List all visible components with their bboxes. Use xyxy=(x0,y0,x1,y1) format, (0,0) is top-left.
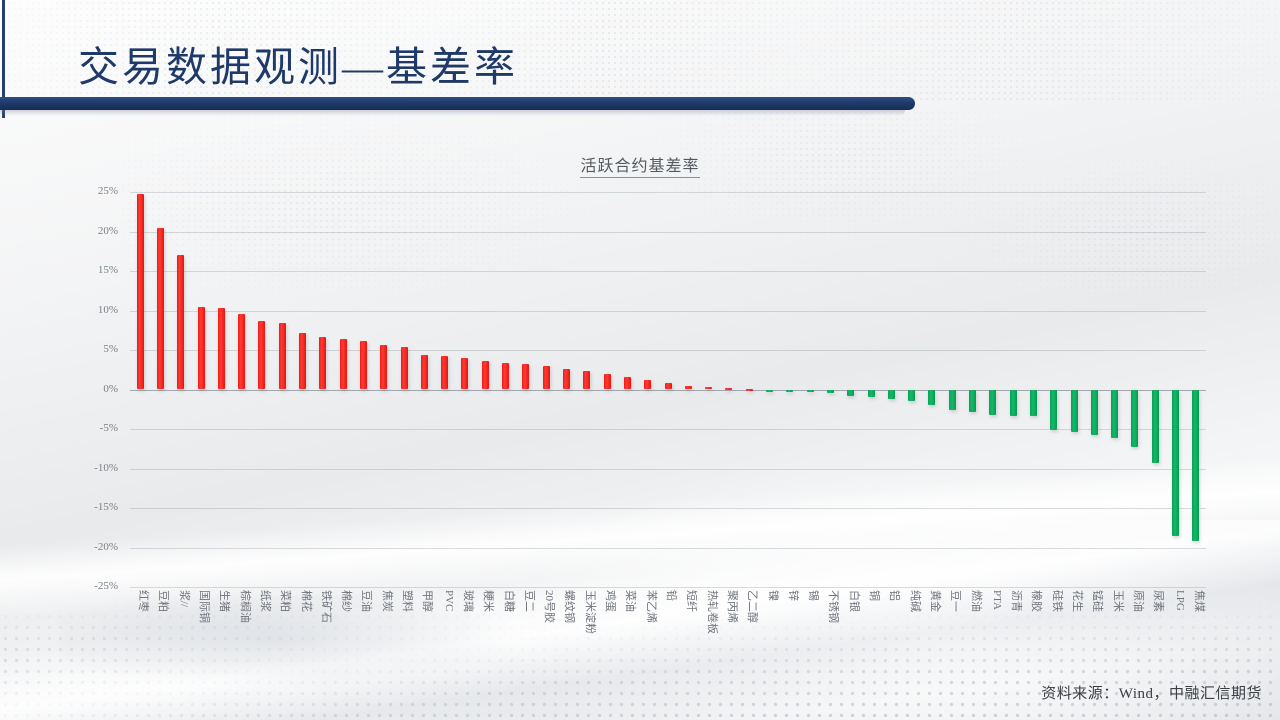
x-axis-category-label: 焦煤 xyxy=(1192,590,1208,612)
gridline xyxy=(130,390,1206,391)
chart-bar[interactable] xyxy=(563,369,570,390)
chart-bar[interactable] xyxy=(1010,390,1017,416)
chart-bar[interactable] xyxy=(177,255,184,389)
gridline xyxy=(130,587,1206,588)
gridline xyxy=(130,548,1206,549)
gridline xyxy=(130,469,1206,470)
x-axis-category-label: 苯乙烯 xyxy=(644,590,660,623)
x-axis-category-label: 焦炭 xyxy=(380,590,396,612)
y-axis-tick-label: -10% xyxy=(58,462,118,474)
chart-bar[interactable] xyxy=(258,321,265,390)
x-axis-category-label: 豆二 xyxy=(522,590,538,612)
chart-bar[interactable] xyxy=(827,390,834,393)
x-axis-category-label: 玉米淀粉 xyxy=(583,590,599,634)
y-axis-tick-label: 15% xyxy=(58,264,118,276)
page-title: 交易数据观测—基差率 xyxy=(78,33,518,93)
header-accent-bar xyxy=(0,97,915,110)
x-axis-category-label: 短纤 xyxy=(684,590,700,612)
x-axis-category-label: 白银 xyxy=(847,590,863,612)
x-axis-category-label: 锰硅 xyxy=(1090,590,1106,612)
gridline xyxy=(130,311,1206,312)
chart-bar[interactable] xyxy=(908,390,915,401)
chart-bar[interactable] xyxy=(604,374,611,390)
chart-bar[interactable] xyxy=(685,386,692,390)
gridline xyxy=(130,508,1206,509)
chart-bar[interactable] xyxy=(949,390,956,411)
x-axis-category-label: 铁矿石 xyxy=(319,590,335,623)
chart-bar[interactable] xyxy=(1071,390,1078,433)
x-axis-category-label: PVC xyxy=(443,590,455,611)
chart-bar[interactable] xyxy=(746,389,753,391)
chart-bar[interactable] xyxy=(522,364,529,389)
y-axis-tick-label: -20% xyxy=(58,541,118,553)
chart-bar[interactable] xyxy=(543,366,550,390)
x-axis-category-label: 锌 xyxy=(786,590,802,601)
chart-bar[interactable] xyxy=(360,341,367,390)
x-axis-category-label: 橡胶 xyxy=(1029,590,1045,612)
x-axis-category-label: 沥青 xyxy=(1009,590,1025,612)
chart-bar[interactable] xyxy=(157,228,164,390)
x-axis-category-label: 乙二醇 xyxy=(745,590,761,623)
x-axis-category-label: LPG xyxy=(1174,590,1186,611)
y-axis-tick-label: 20% xyxy=(58,225,118,237)
y-axis-tick-label: -5% xyxy=(58,422,118,434)
x-axis-category-label: 生猪 xyxy=(217,590,233,612)
chart-bar[interactable] xyxy=(502,363,509,390)
chart-bar[interactable] xyxy=(807,390,814,392)
x-axis-category-label: 黄金 xyxy=(928,590,944,612)
x-axis-category-label: 镍 xyxy=(766,590,782,601)
x-axis-category-label: 螺纹钢 xyxy=(562,590,578,623)
chart-bar[interactable] xyxy=(989,390,996,415)
chart-bar[interactable] xyxy=(218,308,225,389)
chart-bar[interactable] xyxy=(786,390,793,392)
y-axis-tick-label: 25% xyxy=(58,185,118,197)
chart-bar[interactable] xyxy=(401,347,408,390)
chart-title: 活跃合约基差率 xyxy=(0,152,1280,176)
y-axis-tick-label: -25% xyxy=(58,580,118,592)
x-axis-category-label: 硅铁 xyxy=(1050,590,1066,612)
chart-bar[interactable] xyxy=(1172,390,1179,536)
gridline xyxy=(130,232,1206,233)
chart-bar[interactable] xyxy=(299,333,306,390)
chart-bar[interactable] xyxy=(279,323,286,389)
chart-bar[interactable] xyxy=(766,390,773,392)
x-axis-category-label: 浆// xyxy=(177,590,193,607)
gridline xyxy=(130,429,1206,430)
chart-bar[interactable] xyxy=(847,390,854,396)
chart-bar[interactable] xyxy=(340,339,347,390)
x-axis-category-label: 纸浆 xyxy=(258,590,274,612)
y-axis-tick-label: 5% xyxy=(58,343,118,355)
x-axis-category-label: 白糖 xyxy=(502,590,518,612)
y-axis-tick-label: 0% xyxy=(58,383,118,395)
chart-bar[interactable] xyxy=(644,380,651,389)
x-axis-category-label: 豆粕 xyxy=(156,590,172,612)
chart-bar[interactable] xyxy=(888,390,895,399)
chart-bar[interactable] xyxy=(928,390,935,405)
chart-bar[interactable] xyxy=(583,371,590,389)
chart-bar[interactable] xyxy=(482,361,489,389)
chart-bar[interactable] xyxy=(1192,390,1199,542)
x-axis-category-label: 锡 xyxy=(806,590,822,601)
x-axis-category-label: 铝 xyxy=(887,590,903,601)
chart-bar[interactable] xyxy=(421,355,428,390)
chart-bar[interactable] xyxy=(1091,390,1098,436)
x-axis-category-label: 不锈钢 xyxy=(826,590,842,623)
chart-bar[interactable] xyxy=(1111,390,1118,439)
chart-bar[interactable] xyxy=(137,194,144,390)
x-axis-category-label: 棕榈油 xyxy=(238,590,254,623)
chart-bar[interactable] xyxy=(1131,390,1138,448)
slide-canvas: 交易数据观测—基差率 活跃合约基差率 25%20%15%10%5%0%-5%-1… xyxy=(0,0,1280,720)
chart-bar[interactable] xyxy=(624,377,631,390)
chart-title-text: 活跃合约基差率 xyxy=(580,158,699,178)
chart-bar[interactable] xyxy=(868,390,875,398)
x-axis-category-label: PTA xyxy=(991,590,1003,610)
chart-bar[interactable] xyxy=(1050,390,1057,430)
y-axis-tick-label: -15% xyxy=(58,501,118,513)
x-axis-category-label: 粳米 xyxy=(481,590,497,612)
chart-bar[interactable] xyxy=(198,307,205,390)
x-axis-category-label: 国际铜 xyxy=(197,590,213,623)
x-axis-category-label: 热轧卷板 xyxy=(705,590,721,634)
x-axis-category-label: 原油 xyxy=(1131,590,1147,612)
x-axis-category-label: 聚丙烯 xyxy=(725,590,741,623)
x-axis-category-label: 玉米 xyxy=(1111,590,1127,612)
x-axis-category-label: 尿素 xyxy=(1151,590,1167,612)
chart-bar[interactable] xyxy=(665,383,672,389)
x-axis-category-label: 棉花 xyxy=(299,590,315,612)
source-note: 资料来源：Wind，中融汇信期货 xyxy=(1041,682,1262,703)
x-axis-category-label: 豆油 xyxy=(359,590,375,612)
x-axis-category-label: 铅 xyxy=(664,590,680,601)
x-axis-category-label: 纯碱 xyxy=(908,590,924,612)
x-axis-category-label: 菜油 xyxy=(623,590,639,612)
x-axis-category-label: 豆一 xyxy=(948,590,964,612)
x-axis-category-label: 棉纱 xyxy=(339,590,355,612)
chart-bar[interactable] xyxy=(1030,390,1037,417)
x-axis-category-label: 甲醇 xyxy=(420,590,436,612)
chart-plot-area: 25%20%15%10%5%0%-5%-10%-15%-20%-25%红枣豆粕浆… xyxy=(130,192,1206,587)
y-axis-tick-label: 10% xyxy=(58,304,118,316)
gridline xyxy=(130,271,1206,272)
chart-bar[interactable] xyxy=(1152,390,1159,463)
chart-bar[interactable] xyxy=(441,356,448,389)
chart-bar[interactable] xyxy=(969,390,976,413)
x-axis-category-label: 20号胶 xyxy=(542,590,558,623)
x-axis-category-label: 红枣 xyxy=(136,590,152,612)
gridline xyxy=(130,192,1206,193)
chart-bar[interactable] xyxy=(319,337,326,389)
x-axis-category-label: 塑料 xyxy=(400,590,416,612)
x-axis-category-label: 玻璃 xyxy=(461,590,477,612)
x-axis-category-label: 花生 xyxy=(1070,590,1086,612)
x-axis-category-label: 鸡蛋 xyxy=(603,590,619,612)
chart-bar[interactable] xyxy=(380,345,387,389)
chart-bar[interactable] xyxy=(461,358,468,390)
gridline xyxy=(130,350,1206,351)
x-axis-category-label: 菜粕 xyxy=(278,590,294,612)
header-bar-shadow xyxy=(0,110,905,116)
x-axis-category-label: 铜 xyxy=(867,590,883,601)
chart-bar[interactable] xyxy=(238,314,245,389)
x-axis-category-label: 燃油 xyxy=(969,590,985,612)
